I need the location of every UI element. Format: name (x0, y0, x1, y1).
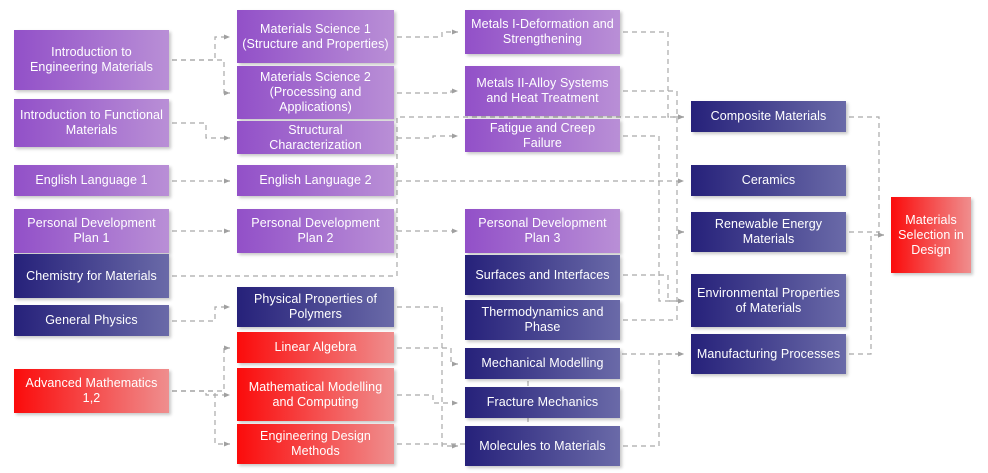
node-env-prop-mat[interactable]: Environmental Properties of Materials (691, 274, 846, 327)
node-label: Metals II-Alloy Systems and Heat Treatme… (469, 76, 616, 106)
node-label: Personal Development Plan 1 (18, 216, 165, 246)
node-molecules-mat[interactable]: Molecules to Materials (465, 426, 620, 466)
curriculum-diagram-canvas: Introduction to Engineering MaterialsInt… (0, 0, 988, 473)
node-surfaces-interfaces[interactable]: Surfaces and Interfaces (465, 255, 620, 295)
edge-thermo-phase-to-renewable-energy (623, 232, 684, 320)
node-label: General Physics (18, 313, 165, 328)
edge-composite-mat-to-mat-selection (849, 117, 884, 235)
node-label: Mechanical Modelling (469, 356, 616, 371)
node-pdp-3[interactable]: Personal Development Plan 3 (465, 209, 620, 253)
edge-surfaces-interfaces-to-env-prop-mat (623, 275, 684, 301)
node-label: Mathematical Modelling and Computing (241, 380, 390, 410)
node-composite-mat[interactable]: Composite Materials (691, 101, 846, 132)
edge-general-physics-to-phys-prop-polymers (172, 307, 230, 321)
node-label: Materials Selection in Design (895, 213, 967, 258)
edge-metals-2-to-renewable-energy (623, 91, 684, 232)
edge-linear-algebra-to-mech-modelling (397, 348, 458, 364)
node-chemistry-mat[interactable]: Chemistry for Materials (14, 254, 169, 298)
node-mech-modelling[interactable]: Mechanical Modelling (465, 348, 620, 379)
node-label: English Language 1 (18, 173, 165, 188)
node-label: Fatigue and Creep Failure (469, 121, 616, 151)
node-pdp-1[interactable]: Personal Development Plan 1 (14, 209, 169, 253)
edge-intro-func-mat-to-struct-char (172, 123, 230, 138)
edge-mat-sci-1-to-metals-1 (397, 32, 458, 37)
node-label: Metals I-Deformation and Strengthening (469, 17, 616, 47)
node-thermo-phase[interactable]: Thermodynamics and Phase (465, 300, 620, 340)
node-label: Structural Characterization (241, 123, 390, 153)
node-ceramics[interactable]: Ceramics (691, 165, 846, 196)
node-label: Materials Science 2 (Processing and Appl… (241, 70, 390, 115)
node-label: Advanced Mathematics 1,2 (18, 376, 165, 406)
node-metals-1[interactable]: Metals I-Deformation and Strengthening (465, 10, 620, 54)
node-label: Molecules to Materials (469, 439, 616, 454)
node-label: Thermodynamics and Phase (469, 305, 616, 335)
edge-math-model-comp-to-fracture-mech (397, 395, 458, 403)
node-label: Composite Materials (695, 109, 842, 124)
node-label: Ceramics (695, 173, 842, 188)
node-manufacturing[interactable]: Manufacturing Processes (691, 334, 846, 374)
node-fracture-mech[interactable]: Fracture Mechanics (465, 387, 620, 418)
edge-fatigue-creep-to-env-prop-mat (623, 136, 684, 301)
node-math-model-comp[interactable]: Mathematical Modelling and Computing (237, 368, 394, 421)
node-label: Chemistry for Materials (18, 269, 165, 284)
node-adv-maths[interactable]: Advanced Mathematics 1,2 (14, 369, 169, 413)
edge-molecules-mat-to-manufacturing (623, 354, 684, 446)
node-eng-design-methods[interactable]: Engineering Design Methods (237, 424, 394, 464)
node-english-1[interactable]: English Language 1 (14, 165, 169, 196)
node-english-2[interactable]: English Language 2 (237, 165, 394, 196)
edge-metals-1-to-composite-mat (623, 32, 684, 117)
edge-intro-eng-mat-to-mat-sci-2 (172, 60, 230, 93)
edge-mat-sci-2-to-metals-2 (397, 91, 458, 93)
node-metals-2[interactable]: Metals II-Alloy Systems and Heat Treatme… (465, 66, 620, 116)
edge-manufacturing-to-mat-selection (849, 235, 884, 354)
node-label: Physical Properties of Polymers (241, 292, 390, 322)
node-label: Environmental Properties of Materials (695, 286, 842, 316)
node-mat-sci-1[interactable]: Materials Science 1 (Structure and Prope… (237, 10, 394, 63)
node-pdp-2[interactable]: Personal Development Plan 2 (237, 209, 394, 253)
node-label: Manufacturing Processes (695, 347, 842, 362)
node-label: Personal Development Plan 3 (469, 216, 616, 246)
edge-renewable-energy-to-mat-selection (849, 232, 884, 235)
node-label: Renewable Energy Materials (695, 217, 842, 247)
node-struct-char[interactable]: Structural Characterization (237, 121, 394, 154)
node-label: English Language 2 (241, 173, 390, 188)
edge-intro-eng-mat-to-mat-sci-1 (172, 37, 230, 60)
node-label: Surfaces and Interfaces (469, 268, 616, 283)
edge-struct-char-to-fatigue-creep (397, 136, 458, 138)
node-renewable-energy[interactable]: Renewable Energy Materials (691, 212, 846, 252)
node-label: Linear Algebra (241, 340, 390, 355)
node-intro-eng-mat[interactable]: Introduction to Engineering Materials (14, 30, 169, 90)
node-label: Fracture Mechanics (469, 395, 616, 410)
edge-adv-maths-to-math-model-comp (172, 391, 230, 395)
node-label: Introduction to Functional Materials (18, 108, 165, 138)
edge-phys-prop-polymers-to-molecules-mat (397, 307, 458, 446)
edge-adv-maths-to-eng-design-methods (172, 391, 230, 444)
node-linear-algebra[interactable]: Linear Algebra (237, 332, 394, 363)
edge-adv-maths-to-linear-algebra (172, 348, 230, 391)
node-mat-selection[interactable]: Materials Selection in Design (891, 197, 971, 273)
node-label: Materials Science 1 (Structure and Prope… (241, 22, 390, 52)
node-label: Introduction to Engineering Materials (18, 45, 165, 75)
node-phys-prop-polymers[interactable]: Physical Properties of Polymers (237, 287, 394, 327)
node-fatigue-creep[interactable]: Fatigue and Creep Failure (465, 119, 620, 152)
node-label: Engineering Design Methods (241, 429, 390, 459)
node-mat-sci-2[interactable]: Materials Science 2 (Processing and Appl… (237, 66, 394, 119)
node-intro-func-mat[interactable]: Introduction to Functional Materials (14, 99, 169, 147)
node-general-physics[interactable]: General Physics (14, 305, 169, 336)
node-label: Personal Development Plan 2 (241, 216, 390, 246)
